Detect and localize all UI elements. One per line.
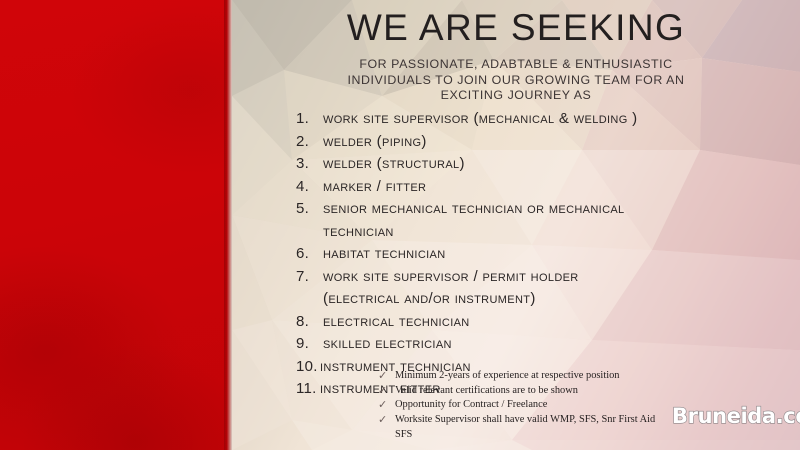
list-item-label: Habitat Technician xyxy=(323,243,786,265)
list-item-number: 5. xyxy=(296,198,323,220)
list-item-number: 7. xyxy=(296,266,323,288)
subtitle-line-2: INDIVIDUALS TO JOIN OUR GROWING TEAM FOR… xyxy=(348,73,685,87)
list-item-label: Senior Mechanical Technician or Mechanic… xyxy=(323,198,786,220)
list-item: 7. Work Site Supervisor / Permit Holder xyxy=(296,266,786,288)
recruitment-poster: NEMSDN BHD Interested candidates please … xyxy=(0,0,800,450)
job-positions-list: 1. Work Site Supervisor (Mechanical & We… xyxy=(296,108,786,401)
list-item-label-continued: Technician xyxy=(323,221,786,243)
list-item-label: Work Site Supervisor / Permit Holder xyxy=(323,266,786,288)
list-item: 4. Marker / Fitter xyxy=(296,176,786,198)
list-item-continuation: SFS xyxy=(378,428,790,442)
requirement-label: Valid relevant certifications are to be … xyxy=(395,384,790,398)
list-item-label-continued: (Electrical and/or Instrument) xyxy=(323,288,786,310)
list-item-label: Skilled Electrician xyxy=(323,333,786,355)
left-panel-edge-divider xyxy=(224,0,232,450)
list-item-continuation: Technician xyxy=(296,221,786,243)
list-item-number: 10. xyxy=(296,356,320,378)
list-item: 8. Electrical Technician xyxy=(296,311,786,333)
list-item: 5. Senior Mechanical Technician or Mecha… xyxy=(296,198,786,220)
list-item-number: 9. xyxy=(296,333,323,355)
list-item-number: 6. xyxy=(296,243,323,265)
list-item: 3. Welder (Structural) xyxy=(296,153,786,175)
list-item-label: Work Site Supervisor (Mechanical & Weldi… xyxy=(323,108,786,130)
list-item-label: Electrical Technician xyxy=(323,311,786,333)
page-title: WE ARE SEEKING xyxy=(232,8,800,48)
list-item-number: 4. xyxy=(296,176,323,198)
left-red-panel xyxy=(0,0,224,450)
list-item-number: 2. xyxy=(296,131,323,153)
check-icon: ✓ xyxy=(378,398,395,412)
page-subtitle: FOR PASSIONATE, ADABTABLE & ENTHUSIASTIC… xyxy=(262,57,770,104)
list-item: 1. Work Site Supervisor (Mechanical & We… xyxy=(296,108,786,130)
list-item: 6. Habitat Technician xyxy=(296,243,786,265)
subtitle-line-3: EXCITING JOURNEY AS xyxy=(441,88,592,102)
subtitle-line-1: FOR PASSIONATE, ADABTABLE & ENTHUSIASTIC xyxy=(359,57,672,71)
list-item-label: Marker / Fitter xyxy=(323,176,786,198)
list-item-number: 8. xyxy=(296,311,323,333)
list-item: 9. Skilled Electrician xyxy=(296,333,786,355)
list-item: ✓ Minimum 2-years of experience at respe… xyxy=(378,369,790,383)
list-item-label: Welder (Structural) xyxy=(323,153,786,175)
requirement-label-continued: SFS xyxy=(395,428,790,442)
list-item-label: Welder (Piping) xyxy=(323,131,786,153)
list-item-number: 11. xyxy=(296,378,320,400)
check-icon: ✓ xyxy=(378,369,395,383)
list-item: 2. Welder (Piping) xyxy=(296,131,786,153)
list-item-continuation: (Electrical and/or Instrument) xyxy=(296,288,786,310)
check-icon: ✓ xyxy=(378,384,395,398)
list-item-number: 1. xyxy=(296,108,323,130)
check-icon: ✓ xyxy=(378,413,395,427)
list-item-number: 3. xyxy=(296,153,323,175)
requirement-label: Minimum 2-years of experience at respect… xyxy=(395,369,790,383)
site-watermark: Bruneida.com xyxy=(672,404,800,428)
list-item: ✓ Valid relevant certifications are to b… xyxy=(378,384,790,398)
